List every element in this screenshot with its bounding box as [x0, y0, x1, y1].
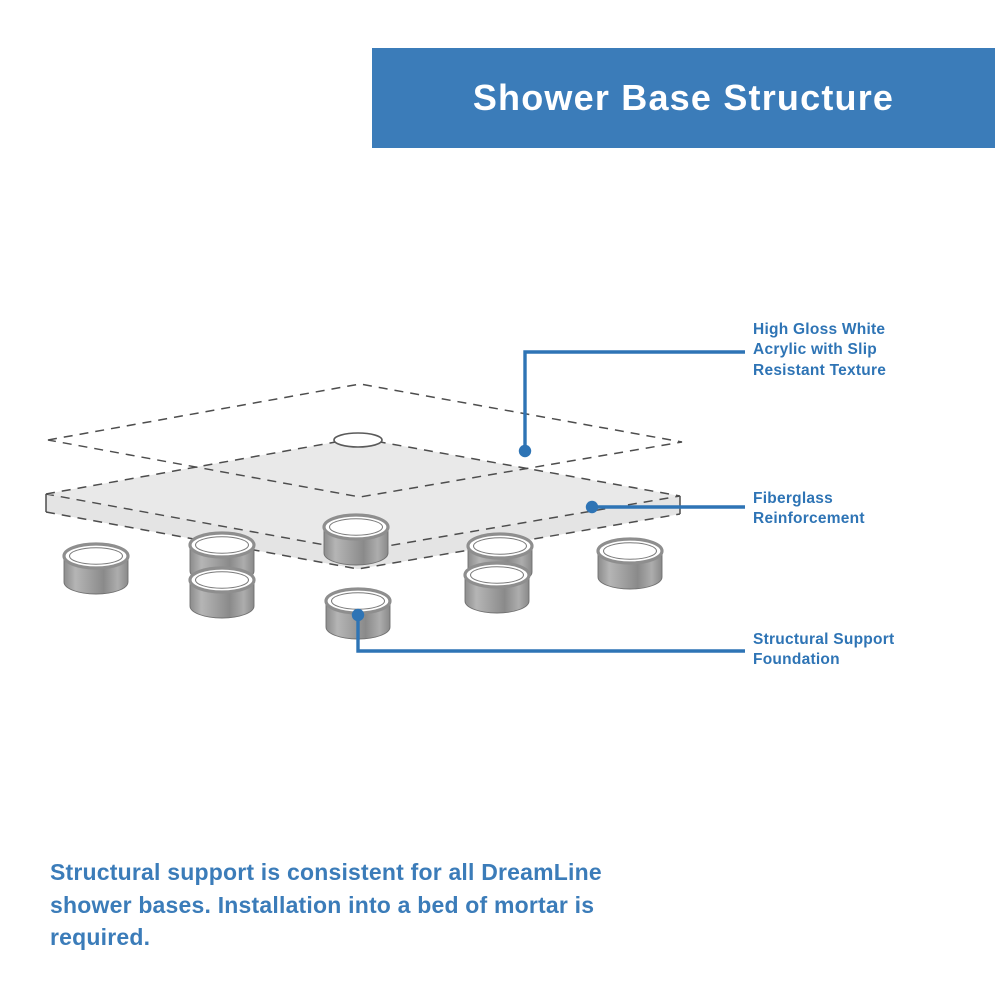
leader-acrylic	[519, 352, 745, 457]
support-ring	[468, 534, 532, 584]
callout-label-fiberglass: Fiberglass Reinforcement	[753, 489, 988, 530]
support-ring	[190, 533, 254, 583]
support-ring	[324, 515, 388, 565]
acrylic-top-plane-layer	[48, 384, 682, 497]
support-ring	[64, 544, 128, 594]
support-ring	[598, 539, 662, 589]
callout-leaders	[352, 352, 745, 651]
callout-label-support: Structural Support Foundation	[753, 630, 988, 671]
support-ring-front	[326, 589, 390, 639]
title-banner: Shower Base Structure	[372, 48, 995, 148]
fiberglass-slab-layer	[46, 438, 680, 569]
diagram-canvas: Shower Base Structure High Gloss White A…	[0, 0, 1000, 1000]
leader-dot-support	[352, 609, 364, 621]
footer-caption: Structural support is consistent for all…	[50, 856, 690, 954]
leader-dot-fiberglass	[586, 501, 598, 513]
drain-ellipse	[334, 433, 382, 447]
leader-fiberglass	[586, 501, 745, 513]
leader-support	[352, 609, 745, 651]
support-ring	[190, 568, 254, 618]
callout-label-acrylic: High Gloss White Acrylic with Slip Resis…	[753, 320, 988, 381]
page-title: Shower Base Structure	[473, 77, 894, 119]
support-ring	[465, 563, 529, 613]
support-rings-group	[64, 515, 662, 639]
leader-dot-acrylic	[519, 445, 531, 457]
